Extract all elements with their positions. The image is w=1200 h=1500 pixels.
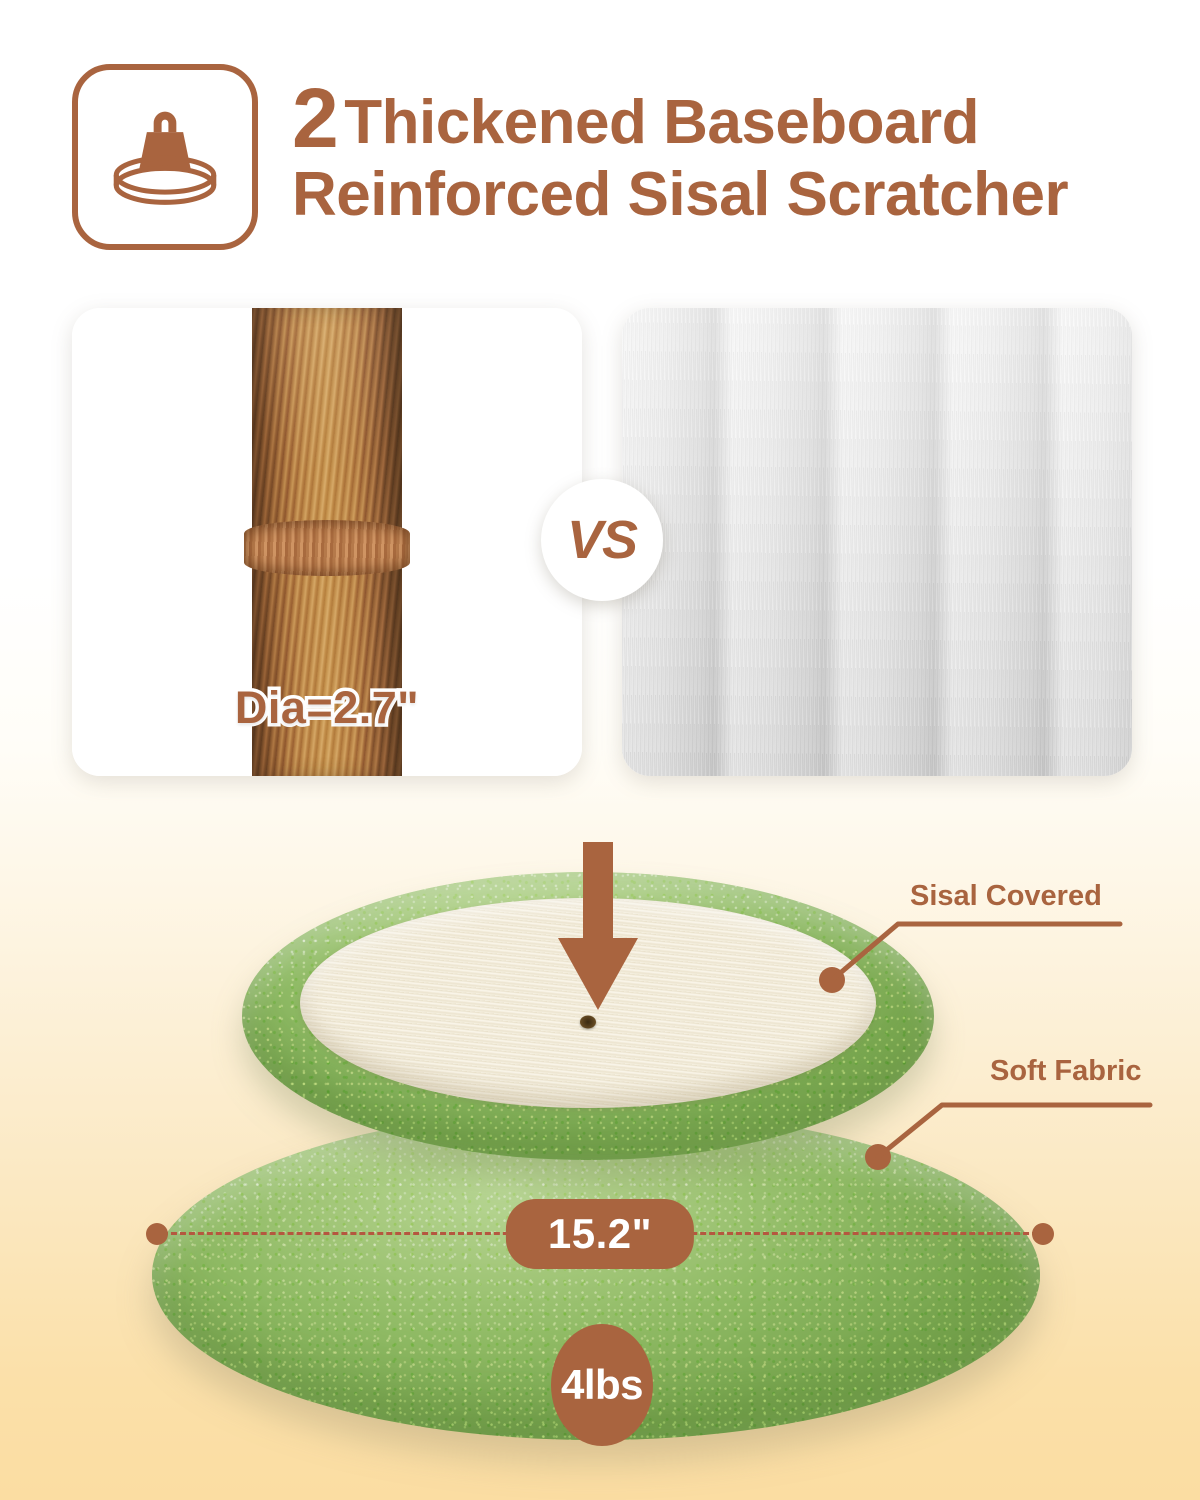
callout-sisal-covered: Sisal Covered bbox=[820, 880, 1180, 1020]
vs-badge: VS bbox=[541, 479, 663, 601]
diameter-label: Dia=2.7" bbox=[72, 682, 582, 734]
center-hole bbox=[580, 1015, 596, 1028]
callout-soft-fabric: Soft Fabric bbox=[860, 1055, 1190, 1195]
white-sisal-ropes-image bbox=[622, 308, 1132, 776]
post-fuzzy-ring bbox=[244, 520, 410, 576]
callout-sisal-label: Sisal Covered bbox=[910, 880, 1102, 913]
weight-badge: 4lbs bbox=[551, 1324, 653, 1446]
dimension-endpoint-right bbox=[1032, 1223, 1054, 1245]
title-line-1: Thickened Baseboard bbox=[344, 88, 979, 157]
callout-fabric-label: Soft Fabric bbox=[990, 1055, 1141, 1088]
title-line-2: Reinforced Sisal Scratcher bbox=[292, 160, 1068, 229]
header: 2Thickened Baseboard Reinforced Sisal Sc… bbox=[72, 64, 1068, 250]
weight-value: 4lbs bbox=[561, 1361, 643, 1409]
comparison-section: Dia=2.7" VS bbox=[72, 308, 1132, 776]
vs-label: VS bbox=[567, 509, 637, 571]
step-number: 2 bbox=[292, 71, 338, 165]
panel-thin-white-sisal bbox=[622, 308, 1132, 776]
down-arrow-icon bbox=[556, 842, 640, 1010]
dimension-value: 15.2" bbox=[506, 1199, 694, 1269]
panel-thick-sisal-post: Dia=2.7" bbox=[72, 308, 582, 776]
dimension-endpoint-left bbox=[146, 1223, 168, 1245]
weight-on-base-icon bbox=[72, 64, 258, 250]
page-title: 2Thickened Baseboard Reinforced Sisal Sc… bbox=[292, 64, 1068, 229]
dimension-indicator: 15.2" bbox=[150, 1225, 1050, 1243]
